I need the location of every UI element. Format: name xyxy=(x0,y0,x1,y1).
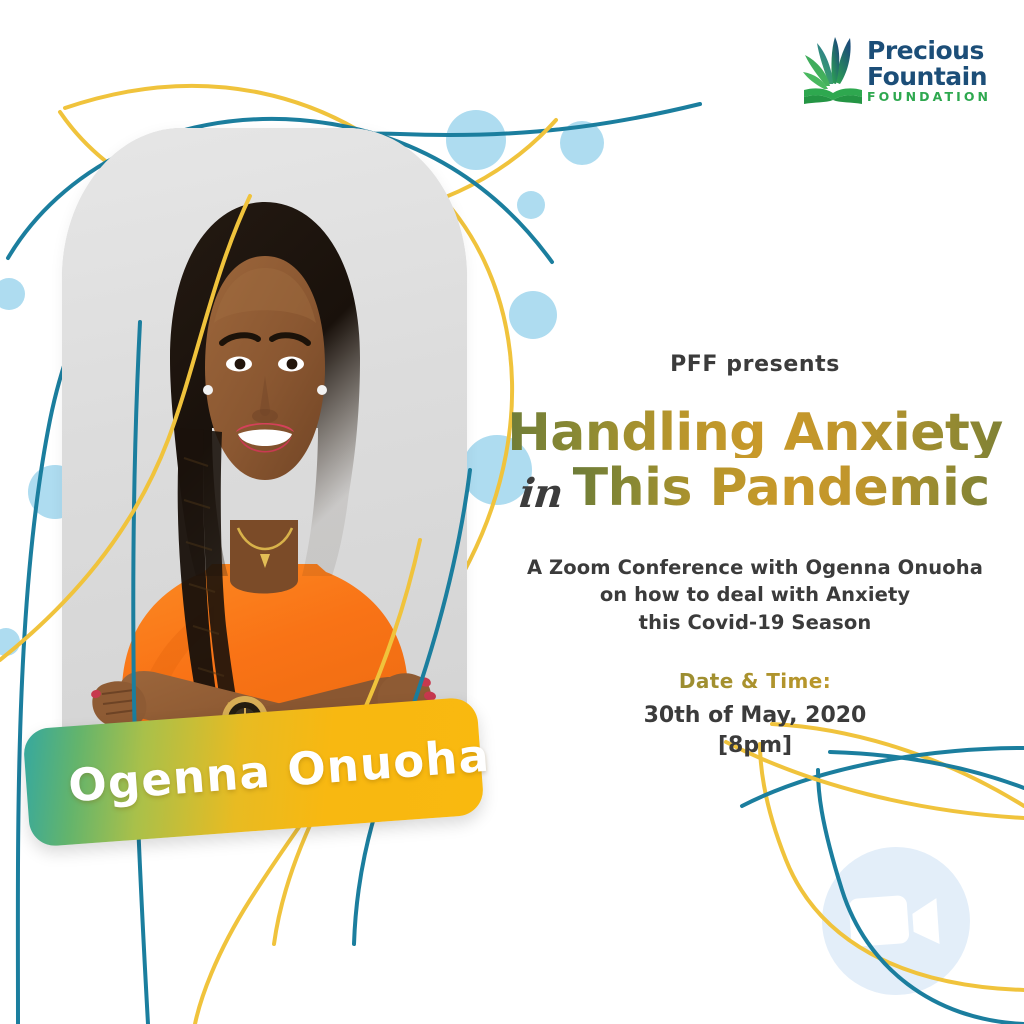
event-time: [8pm] xyxy=(505,731,1005,761)
flyer-canvas: Ogenna Onuoha xyxy=(0,0,1024,1024)
speaker-name-text: Ogenna Onuoha xyxy=(67,728,492,812)
event-date: 30th of May, 2020 xyxy=(505,701,1005,731)
headline-line-2-row: in This Pandemic xyxy=(505,464,1005,513)
headline-line-1: Handling Anxiety xyxy=(505,409,1005,458)
content-column: PFF presents Handling Anxiety in This Pa… xyxy=(505,352,1005,760)
book-leaves-logo-icon xyxy=(802,34,864,108)
logo-subtitle: FOUNDATION xyxy=(867,91,991,104)
headline-line-2: This Pandemic xyxy=(573,464,990,513)
headline: Handling Anxiety in This Pandemic xyxy=(505,409,1005,514)
logo-wordmark: Precious Fountain FOUNDATION xyxy=(867,38,991,104)
logo-line-1: Precious xyxy=(867,38,991,64)
description-line-2: on how to deal with Anxiety xyxy=(505,581,1005,609)
datetime-label: Date & Time: xyxy=(505,669,1005,693)
datetime-value: 30th of May, 2020 [8pm] xyxy=(505,701,1005,760)
zoom-video-camera-watermark xyxy=(820,845,972,997)
description-line-1: A Zoom Conference with Ogenna Onuoha xyxy=(505,554,1005,582)
headline-script-word: in xyxy=(518,475,564,513)
description-line-3: this Covid-19 Season xyxy=(505,609,1005,637)
presents-label: PFF presents xyxy=(505,352,1005,377)
logo-line-2: Fountain xyxy=(867,64,991,90)
logo: Precious Fountain FOUNDATION xyxy=(802,28,972,114)
event-description: A Zoom Conference with Ogenna Onuoha on … xyxy=(505,554,1005,637)
